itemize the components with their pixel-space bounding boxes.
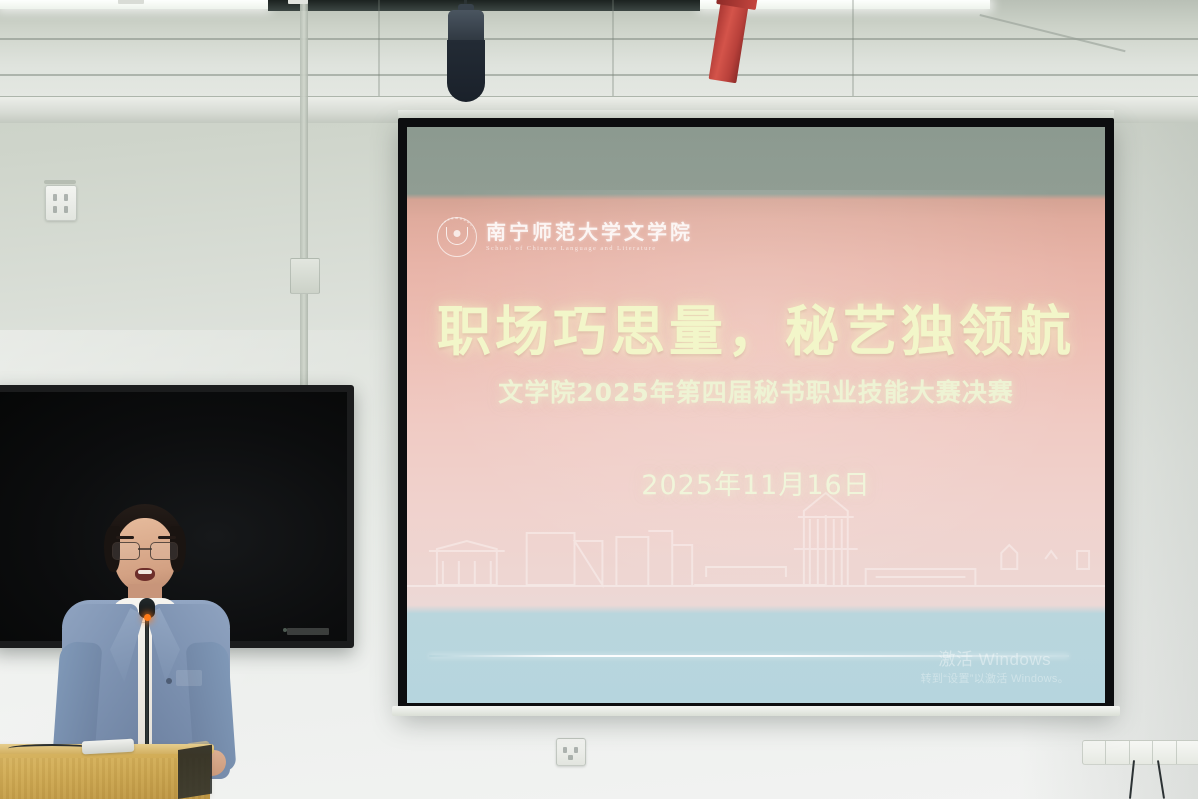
glasses-lens xyxy=(112,542,140,560)
ceiling-grid-line xyxy=(852,0,854,96)
socket-cell[interactable] xyxy=(1083,741,1106,764)
jacket-pocket xyxy=(176,670,202,686)
ceiling-grid-line xyxy=(612,0,614,96)
socket-cell[interactable] xyxy=(1177,741,1198,764)
display-mount-tag xyxy=(118,0,144,4)
wall-socket-strip-right[interactable] xyxy=(1082,740,1198,765)
logo-text-block: 南宁师范大学文学院 School of Chinese Language and… xyxy=(486,222,693,253)
ceiling-grid-line xyxy=(378,0,380,96)
wall-conduit xyxy=(300,0,308,400)
lecture-hall-scene: 南宁师范大学文学院 School of Chinese Language and… xyxy=(0,0,1198,799)
slide-title: 职场巧思量，秘艺独领航 xyxy=(407,287,1105,366)
university-crest-icon xyxy=(437,217,477,257)
slide-subtitle: 文学院2025年第四届秘书职业技能大赛决赛 xyxy=(407,373,1105,409)
ceiling-seam xyxy=(0,38,1198,40)
wall-conduit-junction-box xyxy=(290,258,320,294)
display-power-led-icon xyxy=(283,628,287,632)
presenter-mouth xyxy=(135,568,155,581)
podium-wood-grain xyxy=(0,758,206,799)
socket-cell[interactable] xyxy=(1106,741,1129,764)
presenter-eyebrow xyxy=(116,536,134,539)
jacket-button xyxy=(166,678,172,684)
slide-date: 2025年11月16日 xyxy=(407,463,1105,502)
university-logo: 南宁师范大学文学院 School of Chinese Language and… xyxy=(437,217,693,257)
glasses-icon xyxy=(112,542,178,558)
logo-name-en: School of Chinese Language and Literatur… xyxy=(486,246,693,253)
display-brand-logo xyxy=(287,628,329,635)
logo-name-cn: 南宁师范大学文学院 xyxy=(486,222,693,242)
wall-socket-center[interactable] xyxy=(556,738,586,766)
podium-side-panel xyxy=(178,745,212,799)
hanging-microphone-icon xyxy=(447,40,485,102)
skyline-ground-line xyxy=(429,655,1069,657)
presenter-eyebrow xyxy=(158,536,176,539)
socket-left-lip xyxy=(44,180,76,184)
gooseneck-microphone-stem xyxy=(145,612,149,764)
microphone-led-icon xyxy=(144,614,151,621)
display-mount-tag xyxy=(288,0,308,4)
city-skyline-silhouette xyxy=(407,489,1105,629)
glasses-lens xyxy=(150,542,178,560)
phone-on-podium[interactable] xyxy=(82,739,135,755)
ceiling-dark-band xyxy=(268,0,700,11)
watermark-line-2: 转到“设置”以激活 Windows。 xyxy=(921,672,1069,687)
crest-ring xyxy=(437,217,475,257)
wall-socket-left[interactable] xyxy=(45,185,77,221)
ceiling-seam xyxy=(0,74,1198,76)
presentation-slide: 南宁师范大学文学院 School of Chinese Language and… xyxy=(407,127,1105,703)
watermark-line-1: 激活 Windows xyxy=(921,649,1069,672)
projection-screen-frame: 南宁师范大学文学院 School of Chinese Language and… xyxy=(398,118,1114,712)
projection-screen-rail xyxy=(392,706,1120,716)
